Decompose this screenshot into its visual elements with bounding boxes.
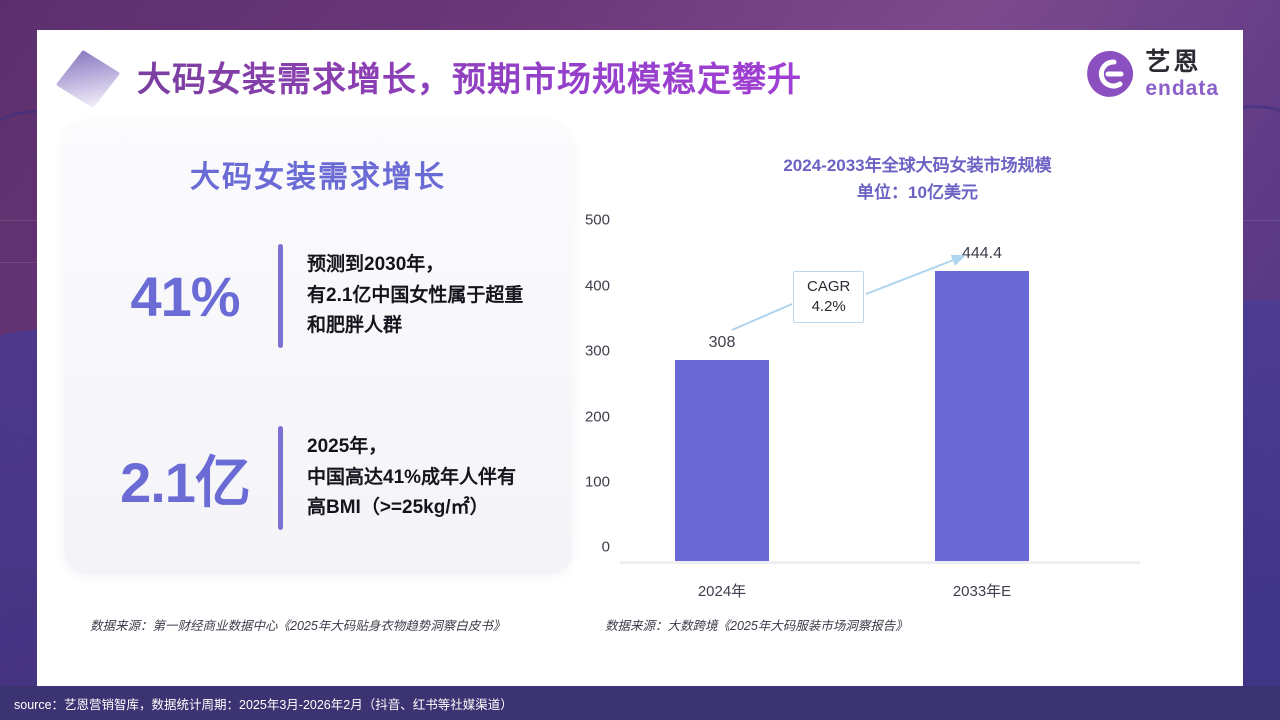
y-tick-300: 300 [585, 343, 610, 360]
logo-cn-text: 艺恩 [1145, 50, 1219, 75]
logo-en-text: endata [1145, 78, 1219, 99]
stat-line: 2025年， [307, 432, 516, 463]
source-bar: source：艺恩营销智库，数据统计周期：2025年3月-2026年2月（抖音、… [0, 686, 1280, 720]
y-tick-100: 100 [585, 473, 610, 490]
bar-value-2033e: 444.4 [962, 245, 1002, 263]
stat-line: 预测到2030年， [307, 250, 523, 281]
source-text: source：艺恩营销智库，数据统计周期：2025年3月-2026年2月（抖音、… [0, 694, 513, 713]
right-panel: 2024-2033年全球大码女装市场规模 单位：10亿美元 0 100 200 … [582, 122, 1243, 574]
stat-row: 2.1亿 2025年， 中国高达41%成年人伴有 高BMI（>=25kg/㎡） [92, 426, 544, 530]
stat-description: 2025年， 中国高达41%成年人伴有 高BMI（>=25kg/㎡） [307, 432, 516, 524]
stat-divider [278, 244, 283, 348]
y-tick-0: 0 [602, 539, 610, 556]
stat-line: 和肥胖人群 [307, 311, 523, 342]
cagr-value: 4.2% [807, 297, 850, 317]
chart-subtitle: 单位：10亿美元 [592, 179, 1243, 206]
bar-chart: 0 100 200 300 400 500 308 2024年 444.4 20… [620, 234, 1140, 564]
y-tick-500: 500 [585, 212, 610, 229]
left-panel: 大码女装需求增长 41% 预测到2030年， 有2.1亿中国女性属于超重 和肥胖… [37, 122, 582, 574]
cagr-label: CAGR [807, 277, 850, 297]
chart-title-main: 2024-2033年全球大码女装市场规模 [592, 152, 1243, 179]
chart-title: 2024-2033年全球大码女装市场规模 单位：10亿美元 [592, 152, 1243, 206]
x-tick-2024: 2024年 [698, 580, 746, 601]
bar-2033e[interactable] [935, 271, 1029, 561]
diamond-icon [56, 50, 121, 108]
page-title: 大码女装需求增长，预期市场规模稳定攀升 [137, 52, 802, 101]
y-tick-400: 400 [585, 277, 610, 294]
stat-description: 预测到2030年， 有2.1亿中国女性属于超重 和肥胖人群 [307, 250, 523, 342]
stat-value-41: 41% [92, 264, 278, 329]
endata-logo-icon [1084, 48, 1136, 100]
stat-divider [278, 426, 283, 530]
y-tick-200: 200 [585, 408, 610, 425]
stat-line: 中国高达41%成年人伴有 [307, 463, 516, 494]
chart-baseline [620, 561, 1140, 564]
stat-card: 大码女装需求增长 41% 预测到2030年， 有2.1亿中国女性属于超重 和肥胖… [64, 122, 572, 574]
stat-line: 高BMI（>=25kg/㎡） [307, 493, 516, 524]
stat-value-21yi: 2.1亿 [92, 438, 278, 519]
bar-2024[interactable] [675, 360, 769, 561]
slide-header: 大码女装需求增长，预期市场规模稳定攀升 艺恩 endata [37, 30, 1243, 122]
stat-row: 41% 预测到2030年， 有2.1亿中国女性属于超重 和肥胖人群 [92, 244, 544, 348]
stat-line: 有2.1亿中国女性属于超重 [307, 281, 523, 312]
brand-logo: 艺恩 endata [1084, 48, 1219, 100]
slide-card: 大码女装需求增长，预期市场规模稳定攀升 艺恩 endata 大码女装需求增长 4… [37, 30, 1243, 690]
footnote-left: 数据来源：第一财经商业数据中心《2025年大码贴身衣物趋势洞察白皮书》 [90, 615, 505, 634]
x-tick-2033e: 2033年E [953, 580, 1011, 601]
slide-body: 大码女装需求增长 41% 预测到2030年， 有2.1亿中国女性属于超重 和肥胖… [37, 122, 1243, 574]
cagr-callout: CAGR 4.2% [793, 271, 864, 323]
footnote-right: 数据来源：大数跨境《2025年大码服装市场洞察报告》 [605, 615, 908, 634]
stat-card-title: 大码女装需求增长 [92, 152, 544, 196]
bar-value-2024: 308 [709, 334, 736, 352]
